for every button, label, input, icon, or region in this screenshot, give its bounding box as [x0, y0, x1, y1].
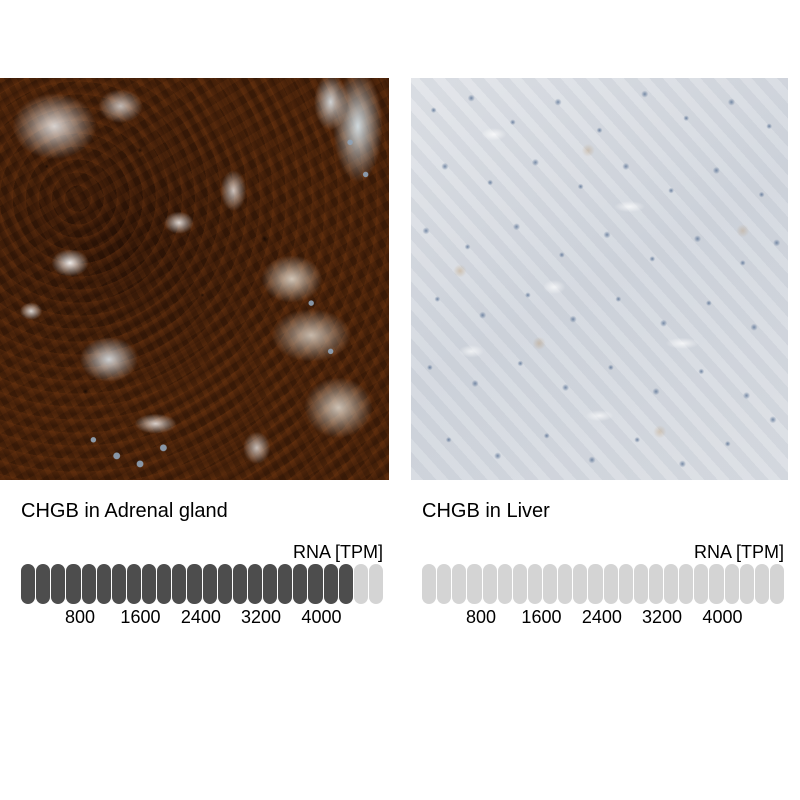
gauge-segment	[634, 564, 648, 604]
gauge-segment	[51, 564, 65, 604]
gauge-segment	[664, 564, 678, 604]
gauge-tick-label: 800	[65, 607, 95, 628]
gauge-segment	[172, 564, 186, 604]
gauge-segment	[755, 564, 769, 604]
gauge-tick-label: 4000	[702, 607, 742, 628]
gauge-segment	[369, 564, 383, 604]
gauge-segment	[619, 564, 633, 604]
gauge-tick-label: 3200	[241, 607, 281, 628]
caption-liver: CHGB in Liver	[422, 498, 784, 524]
gauge-segment	[293, 564, 307, 604]
gauge-segment	[66, 564, 80, 604]
gauge-segment	[21, 564, 35, 604]
gauge-segment	[649, 564, 663, 604]
gauge-segment	[112, 564, 126, 604]
gauge-segment	[483, 564, 497, 604]
gauge-segment	[187, 564, 201, 604]
caption-adrenal: CHGB in Adrenal gland	[21, 498, 383, 524]
gauge-tick-label: 2400	[181, 607, 221, 628]
gauge-liver: RNA [TPM] 8001600240032004000	[422, 564, 784, 633]
rna-tpm-label-adrenal: RNA [TPM]	[293, 542, 383, 563]
gauge-segment	[127, 564, 141, 604]
gauge-segment	[339, 564, 353, 604]
gauge-segment	[588, 564, 602, 604]
gauge-bars-adrenal[interactable]	[21, 564, 383, 604]
micrograph-adrenal-gland[interactable]	[0, 78, 389, 480]
page-root: CHGB in Adrenal gland RNA [TPM] 80016002…	[0, 0, 800, 800]
gauge-segment	[558, 564, 572, 604]
gauge-tick-label: 4000	[301, 607, 341, 628]
gauge-segment	[308, 564, 322, 604]
gauge-ticks-liver: 8001600240032004000	[422, 607, 784, 633]
gauge-segment	[452, 564, 466, 604]
panel-adrenal	[0, 78, 389, 480]
gauge-segment	[573, 564, 587, 604]
gauge-segment	[543, 564, 557, 604]
gauge-segment	[694, 564, 708, 604]
gauge-segment	[740, 564, 754, 604]
gauge-segment	[709, 564, 723, 604]
gauge-segment	[82, 564, 96, 604]
gauge-segment	[97, 564, 111, 604]
gauge-segment	[218, 564, 232, 604]
gauge-segment	[142, 564, 156, 604]
gauge-segment	[604, 564, 618, 604]
gauge-segment	[354, 564, 368, 604]
caption-block-adrenal: CHGB in Adrenal gland RNA [TPM] 80016002…	[21, 498, 383, 524]
gauge-tick-label: 3200	[642, 607, 682, 628]
gauge-segment	[263, 564, 277, 604]
gauge-bars-liver[interactable]	[422, 564, 784, 604]
gauge-segment	[467, 564, 481, 604]
gauge-segment	[513, 564, 527, 604]
gauge-tick-label: 2400	[582, 607, 622, 628]
gauge-ticks-adrenal: 8001600240032004000	[21, 607, 383, 633]
gauge-adrenal: RNA [TPM] 8001600240032004000	[21, 564, 383, 633]
gauge-segment	[278, 564, 292, 604]
gauge-tick-label: 1600	[521, 607, 561, 628]
gauge-segment	[422, 564, 436, 604]
gauge-segment	[248, 564, 262, 604]
micrograph-liver[interactable]	[411, 78, 788, 480]
gauge-segment	[324, 564, 338, 604]
gauge-tick-label: 1600	[120, 607, 160, 628]
gauge-segment	[233, 564, 247, 604]
gauge-segment	[679, 564, 693, 604]
gauge-segment	[725, 564, 739, 604]
gauge-segment	[157, 564, 171, 604]
gauge-tick-label: 800	[466, 607, 496, 628]
gauge-segment	[36, 564, 50, 604]
gauge-segment	[528, 564, 542, 604]
caption-block-liver: CHGB in Liver RNA [TPM] 8001600240032004…	[422, 498, 784, 524]
gauge-segment	[770, 564, 784, 604]
rna-tpm-label-liver: RNA [TPM]	[694, 542, 784, 563]
gauge-segment	[203, 564, 217, 604]
panel-liver	[411, 78, 788, 480]
gauge-segment	[498, 564, 512, 604]
gauge-segment	[437, 564, 451, 604]
